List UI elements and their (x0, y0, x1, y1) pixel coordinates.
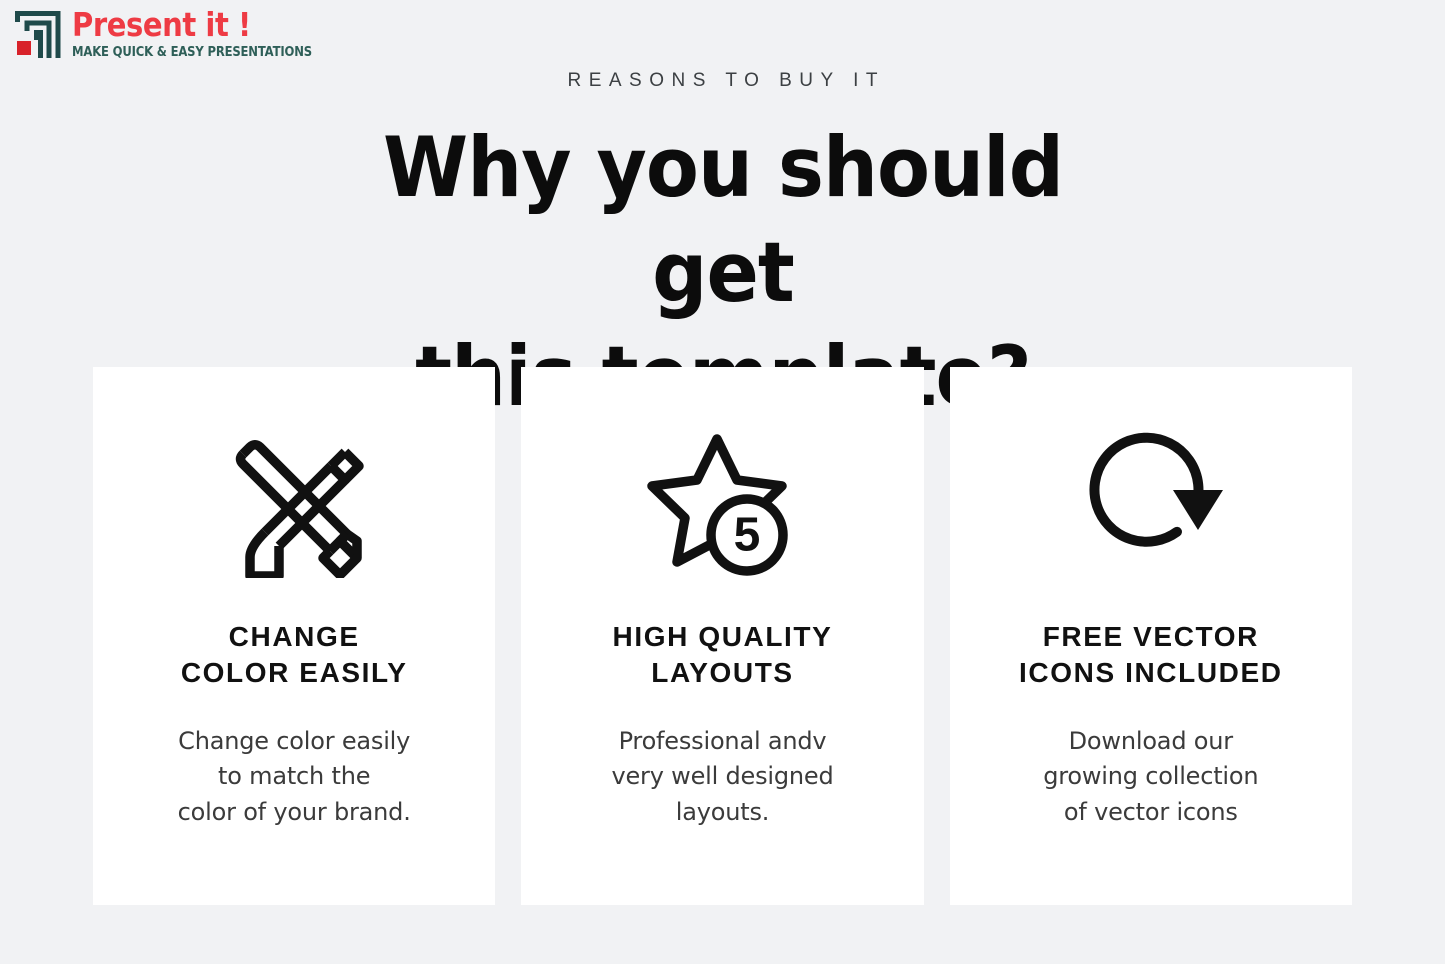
logo-text-block: Present it ! MAKE QUICK & EASY PRESENTAT… (72, 8, 351, 59)
page-title-line-1: Why you should get (382, 119, 1062, 321)
feature-card-body: Professional andv very well designed lay… (611, 724, 833, 831)
logo-wordmark: Present it ! (72, 8, 318, 43)
logo-tagline: MAKE QUICK & EASY PRESENTATIONS (72, 46, 312, 60)
star-badge-number: 5 (734, 509, 761, 562)
feature-card-free-vector-icons[interactable]: FREE VECTOR ICONS INCLUDED Download our … (950, 367, 1352, 905)
feature-card-body: Change color easily to match the color o… (178, 724, 411, 831)
feature-card-title: FREE VECTOR ICONS INCLUDED (1019, 619, 1283, 692)
brand-logo[interactable]: Present it ! MAKE QUICK & EASY PRESENTAT… (12, 8, 351, 60)
feature-card-title: CHANGE COLOR EASILY (181, 619, 408, 692)
circular-refresh-arrow-icon (1076, 429, 1226, 579)
section-eyebrow: REASONS TO BUY IT (0, 70, 1445, 92)
feature-card-title: HIGH QUALITY LAYOUTS (613, 619, 833, 692)
feature-card-row: CHANGE COLOR EASILY Change color easily … (93, 367, 1352, 905)
feature-card-body: Download our growing collection of vecto… (1043, 724, 1258, 831)
slide-canvas: Present it ! MAKE QUICK & EASY PRESENTAT… (0, 0, 1445, 964)
star-with-five-badge-icon: 5 (647, 429, 797, 579)
logo-mark-icon (12, 8, 64, 60)
pencil-and-paintbrush-icon (219, 429, 369, 579)
feature-card-high-quality-layouts[interactable]: 5 HIGH QUALITY LAYOUTS Professional andv… (521, 367, 923, 905)
feature-card-change-color[interactable]: CHANGE COLOR EASILY Change color easily … (93, 367, 495, 905)
